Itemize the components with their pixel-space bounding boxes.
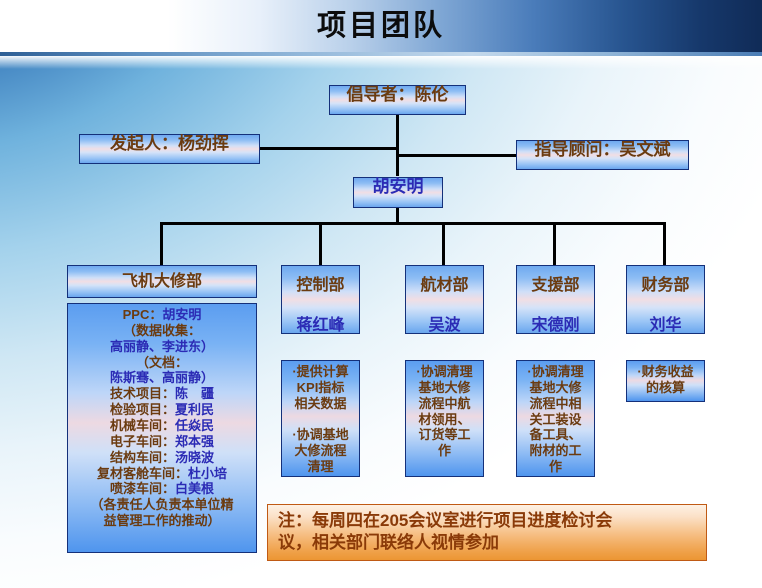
connector-department-bus — [160, 222, 666, 225]
detail-line: （各责任人负责本单位精 — [70, 497, 254, 513]
detail-line: 清理 — [284, 459, 357, 475]
note-line-1: 注：每周四在205会议室进行项目进度检讨会 — [278, 510, 698, 532]
detail-line: 订货等工 — [408, 427, 481, 443]
detail-line: PPC：胡安明 — [70, 307, 254, 323]
detail-line: 基地大修 — [408, 380, 481, 396]
detail-line: ·协调清理 — [408, 364, 481, 380]
node-initiator-label: 发起人：杨劲挥 — [80, 135, 259, 152]
dept-name: 航材部 — [406, 271, 483, 295]
dept-name: 财务部 — [627, 271, 704, 295]
node-manager-label: 胡安明 — [354, 178, 442, 195]
connector-drop-dept-1 — [160, 222, 163, 265]
dept-head-name: 刘华 — [627, 311, 704, 335]
dept-detail-support[interactable]: ·协调清理基地大修流程中相关工装设备工具、附材的工作 — [516, 360, 595, 477]
page-title: 项目团队 — [0, 0, 762, 52]
detail-line: 基地大修 — [519, 380, 592, 396]
detail-line: 流程中相 — [519, 396, 592, 412]
detail-line: 陈斯骞、高丽静） — [70, 370, 254, 386]
detail-line: 相关数据 — [284, 396, 357, 412]
detail-line: 作 — [519, 459, 592, 475]
connector-leader-to-initiator — [259, 147, 398, 150]
detail-line: 技术项目：陈 疆 — [70, 386, 254, 402]
detail-line: 益管理工作的推动） — [70, 513, 254, 529]
dept-name: 飞机大修部 — [68, 266, 256, 297]
detail-line: 机械车间：任焱民 — [70, 418, 254, 434]
note-box[interactable]: 注：每周四在205会议室进行项目进度检讨会 议，相关部门联络人视情参加 — [267, 504, 707, 561]
detail-line: ·提供计算 — [284, 364, 357, 380]
slide-canvas: 项目团队 倡导者：陈伦 发起人：杨劲挥 指导顾问：吴文斌 胡安明 飞机大修部 控… — [0, 0, 762, 588]
dept-header-aircraft-overhaul[interactable]: 飞机大修部 — [67, 265, 257, 298]
dept-header-finance[interactable]: 财务部 刘华 — [626, 265, 705, 334]
connector-drop-dept-2 — [319, 222, 322, 265]
node-leader[interactable]: 倡导者：陈伦 — [329, 85, 466, 115]
connector-drop-dept-3 — [442, 222, 445, 265]
dept-name: 控制部 — [282, 271, 359, 295]
connector-leader-to-advisor — [397, 154, 516, 157]
detail-line: 检验项目：夏利民 — [70, 402, 254, 418]
detail-line: ·财务收益 — [629, 364, 702, 380]
node-advisor-label: 指导顾问：吴文斌 — [517, 141, 688, 158]
dept-detail-aviation-materials[interactable]: ·协调清理基地大修流程中航材领用、订货等工作 — [405, 360, 484, 477]
detail-line: 流程中航 — [408, 396, 481, 412]
node-advisor[interactable]: 指导顾问：吴文斌 — [516, 140, 689, 170]
detail-line: （数据收集： — [70, 323, 254, 339]
dept-name: 支援部 — [517, 271, 594, 295]
connector-leader-to-manager — [396, 114, 399, 176]
dept-head-name: 蒋红峰 — [282, 311, 359, 335]
dept-head-name: 吴波 — [406, 311, 483, 335]
detail-line: 结构车间：汤晓波 — [70, 450, 254, 466]
detail-line: 关工装设 — [519, 412, 592, 428]
dept-header-support[interactable]: 支援部 宋德刚 — [516, 265, 595, 334]
node-leader-label: 倡导者：陈伦 — [330, 86, 465, 103]
dept-detail-aircraft-overhaul[interactable]: PPC：胡安明（数据收集：高丽静、李进东）（文档：陈斯骞、高丽静）技术项目：陈 … — [67, 303, 257, 553]
connector-drop-dept-5 — [663, 222, 666, 265]
dept-header-aviation-materials[interactable]: 航材部 吴波 — [405, 265, 484, 334]
detail-line: KPI指标 — [284, 380, 357, 396]
dept-header-control[interactable]: 控制部 蒋红峰 — [281, 265, 360, 334]
node-manager[interactable]: 胡安明 — [353, 177, 443, 208]
dept-detail-control[interactable]: ·提供计算KPI指标相关数据 ·协调基地大修流程清理 — [281, 360, 360, 477]
detail-line — [284, 412, 357, 428]
detail-line: 复材客舱车间：杜小培 — [70, 466, 254, 482]
connector-drop-dept-4 — [553, 222, 556, 265]
detail-line: 的核算 — [629, 380, 702, 396]
detail-line: ·协调清理 — [519, 364, 592, 380]
detail-line: 大修流程 — [284, 443, 357, 459]
detail-line: 备工具、 — [519, 427, 592, 443]
header-shadow — [0, 56, 762, 69]
detail-line: 作 — [408, 443, 481, 459]
detail-line: （文档： — [70, 355, 254, 371]
detail-line: ·协调基地 — [284, 427, 357, 443]
note-line-2: 议，相关部门联络人视情参加 — [278, 532, 698, 554]
detail-line: 喷漆车间：白美根 — [70, 481, 254, 497]
detail-line: 附材的工 — [519, 443, 592, 459]
header-divider-rule — [0, 52, 762, 56]
detail-line: 材领用、 — [408, 412, 481, 428]
dept-detail-finance[interactable]: ·财务收益的核算 — [626, 360, 705, 402]
detail-line: 电子车间：郑本强 — [70, 434, 254, 450]
detail-line: 高丽静、李进东） — [70, 339, 254, 355]
dept-head-name: 宋德刚 — [517, 311, 594, 335]
node-initiator[interactable]: 发起人：杨劲挥 — [79, 134, 260, 164]
